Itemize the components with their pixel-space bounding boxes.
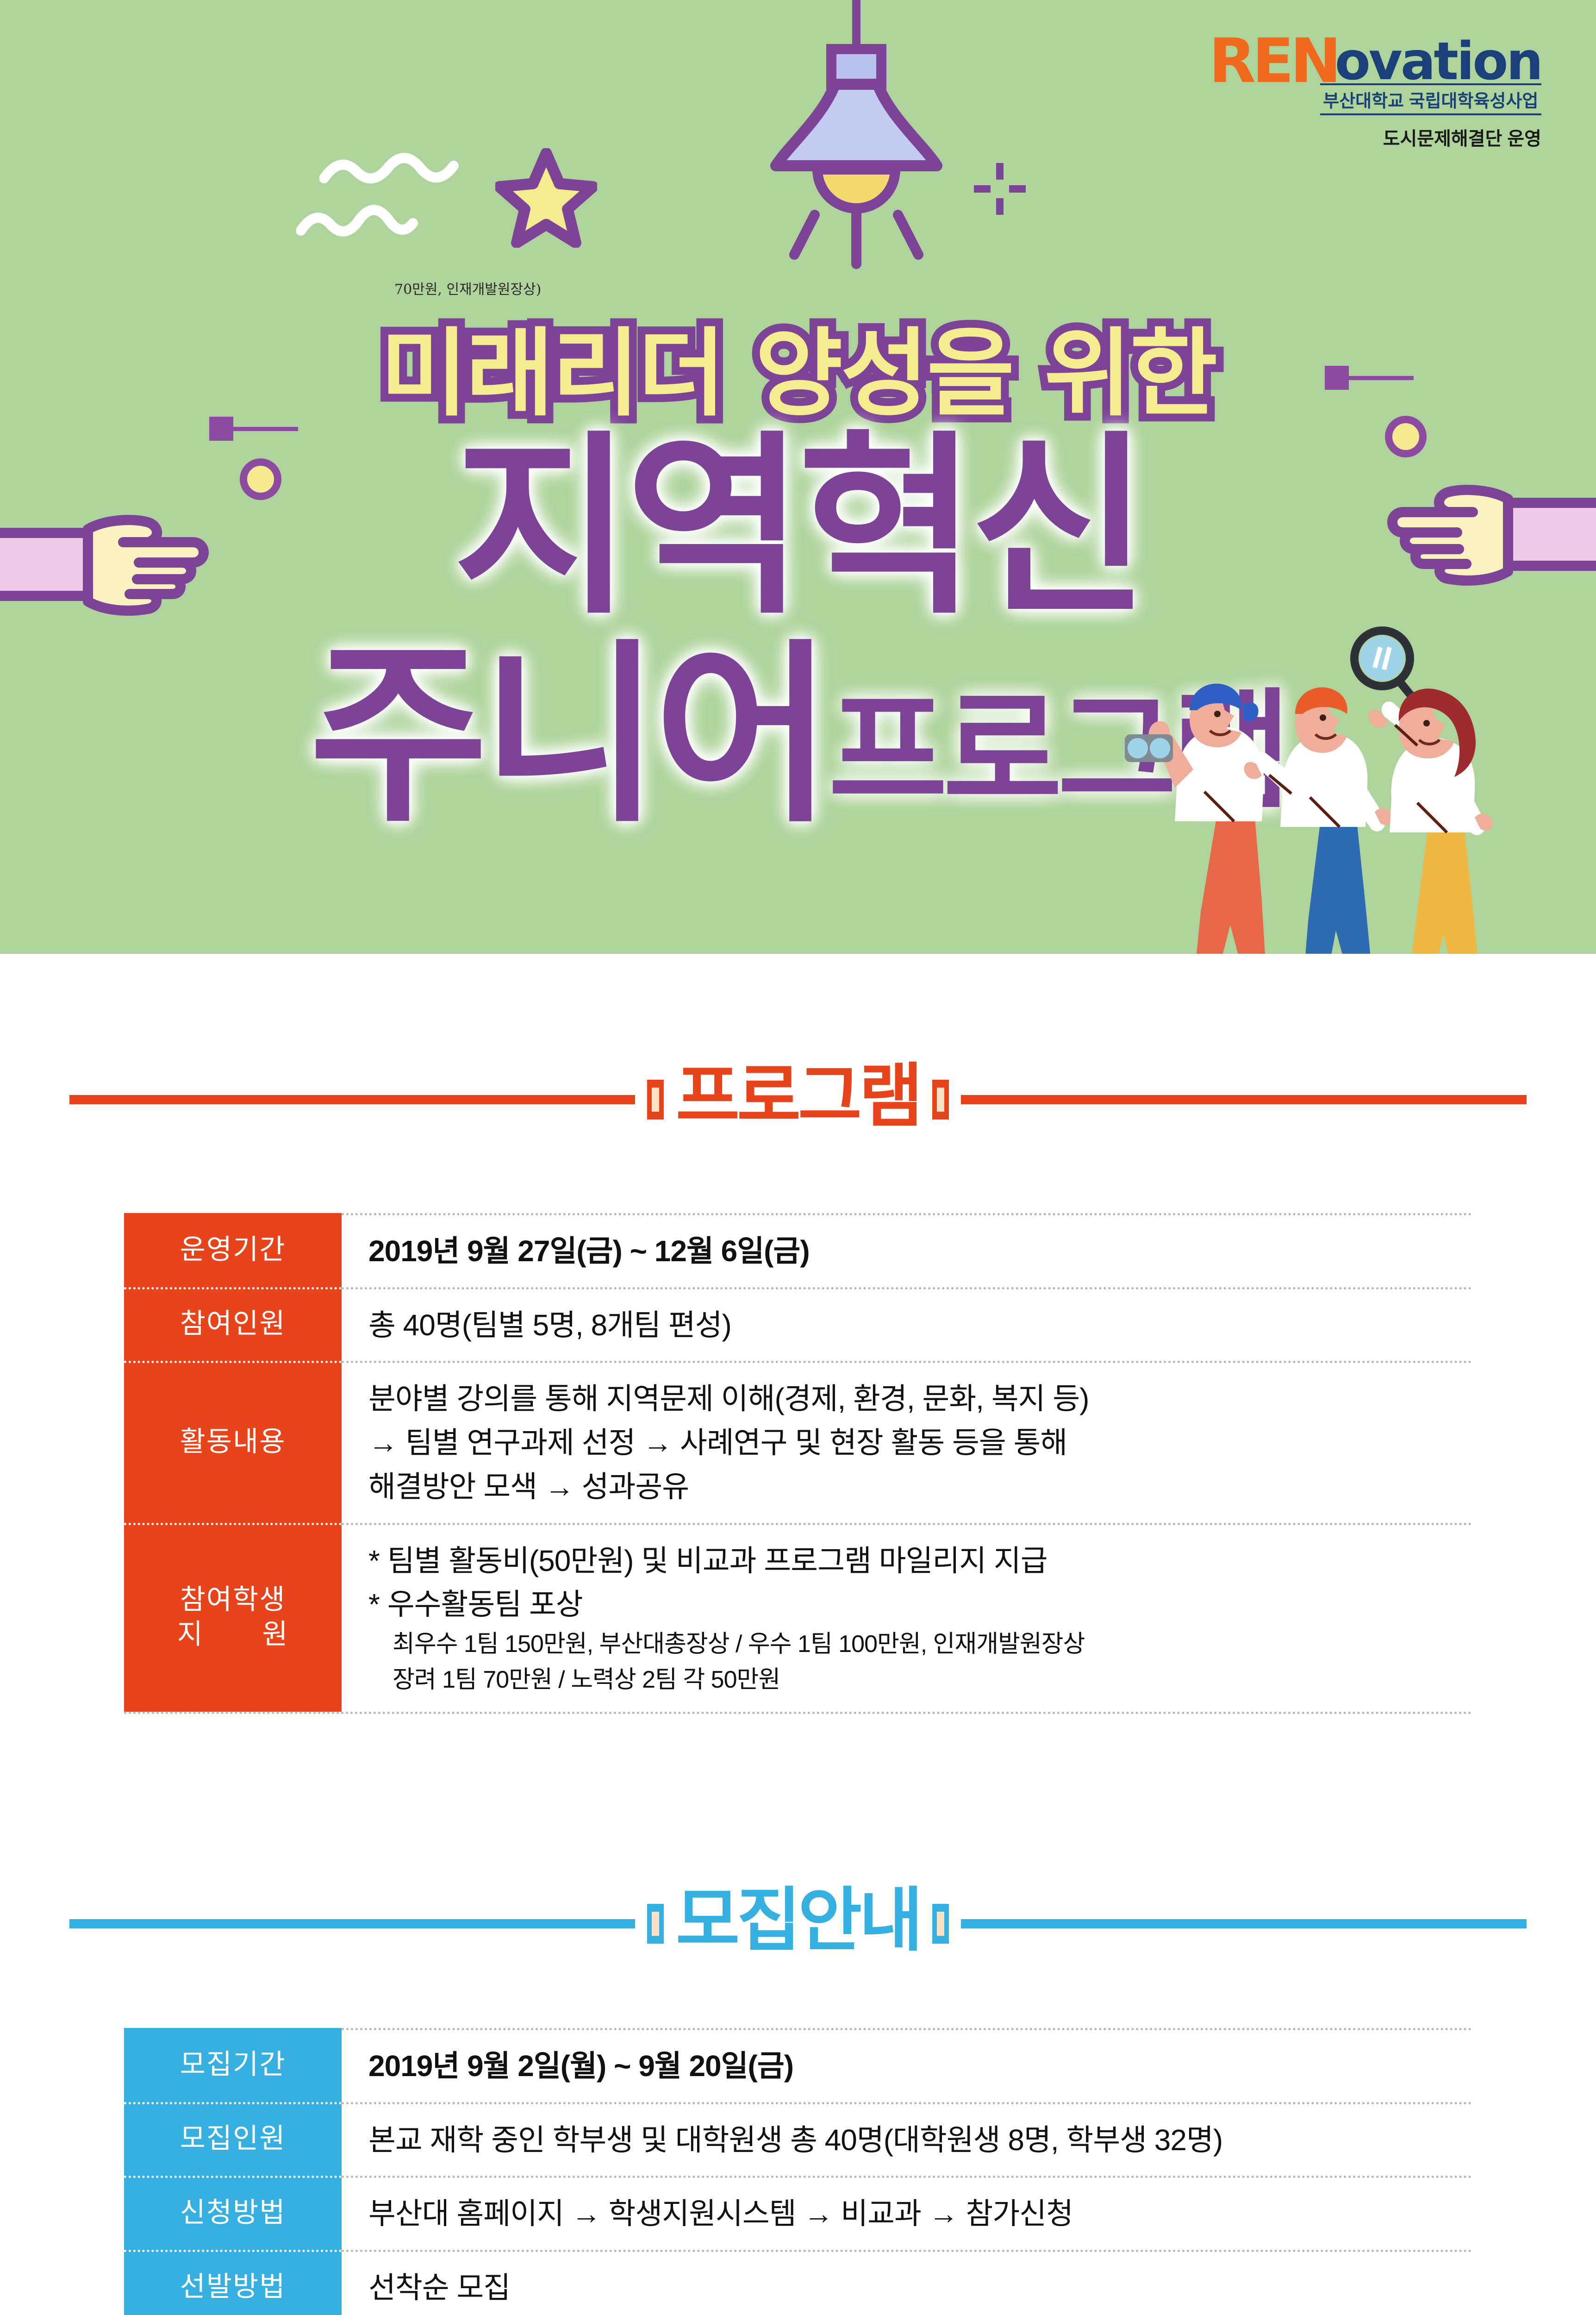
logo-ren-text: REN (1209, 36, 1338, 86)
program-info-table: 운영기간2019년 9월 27일(금) ~ 12월 6일(금)참여인원총 40명… (124, 1213, 1472, 1714)
star-icon (495, 148, 597, 248)
student-with-magnifier (1354, 631, 1493, 954)
squiggle-icon (296, 204, 435, 241)
header-decor-box-left (647, 1904, 664, 1944)
header-rule-left (69, 1095, 635, 1104)
row-value-line: 2019년 9월 27일(금) ~ 12월 6일(금) (368, 1229, 1472, 1273)
squiggle-icon (319, 153, 472, 190)
row-value: 본교 재학 중인 학부생 및 대학원생 총 40명(대학원생 8명, 학부생 3… (342, 2102, 1472, 2176)
logo-ovation-text: ovation (1335, 37, 1541, 86)
row-value-line: → 팀별 연구과제 선정 → 사례연구 및 현장 활동 등을 통해 (368, 1421, 1472, 1465)
student-center (1244, 687, 1392, 954)
row-label: 선발방법 (124, 2250, 342, 2315)
row-value: 총 40명(팀별 5명, 8개팀 편성) (342, 1287, 1472, 1361)
table-row: 참여학생 지 원* 팀별 활동비(50만원) 및 비교과 프로그램 마일리지 지… (124, 1523, 1472, 1712)
recruit-section-header: 모집안내 (0, 1884, 1596, 1963)
logo-subtitle: 부산대학교 국립대학육성사업 (1320, 83, 1541, 115)
logo-tagline: 도시문제해결단 운영 (1209, 124, 1541, 150)
row-value-line: * 팀별 활동비(50만원) 및 비교과 프로그램 마일리지 지급 (368, 1539, 1472, 1583)
program-section-header: 프로그램 (0, 1060, 1596, 1139)
recruit-info-table: 모집기간2019년 9월 2일(월) ~ 9월 20일(금)모집인원본교 재학 … (124, 2028, 1472, 2315)
stray-note-text: 70만원, 인재개발원장상) (394, 278, 541, 298)
table-row: 활동내용분야별 강의를 통해 지역문제 이해(경제, 환경, 문화, 복지 등)… (124, 1361, 1472, 1522)
hanging-lamp-icon (722, 0, 991, 275)
program-heading-text: 프로그램 (676, 1062, 920, 1138)
header-rule-left (69, 1919, 635, 1928)
row-label: 신청방법 (124, 2176, 342, 2250)
hero-banner: REN ovation 부산대학교 국립대학육성사업 도시문제해결단 운영 70… (0, 0, 1596, 954)
recruit-heading-text: 모집안내 (676, 1886, 920, 1962)
table-row: 신청방법부산대 홈페이지 → 학생지원시스템 → 비교과 → 참가신청 (124, 2176, 1472, 2250)
three-students-illustration (1036, 607, 1582, 954)
row-value-line: 부산대 홈페이지 → 학생지원시스템 → 비교과 → 참가신청 (368, 2192, 1472, 2236)
row-label: 활동내용 (124, 1361, 342, 1522)
table-row: 모집인원본교 재학 중인 학부생 및 대학원생 총 40명(대학원생 8명, 학… (124, 2102, 1472, 2176)
student-with-binoculars (1125, 683, 1282, 954)
header-rule-right (961, 1095, 1527, 1104)
row-label: 운영기간 (124, 1213, 342, 1287)
table-row: 모집기간2019년 9월 2일(월) ~ 9월 20일(금) (124, 2028, 1472, 2102)
row-value-line: 본교 재학 중인 학부생 및 대학원생 총 40명(대학원생 8명, 학부생 3… (368, 2118, 1472, 2162)
table-bottom-rule (124, 1712, 1472, 1714)
row-value: 2019년 9월 2일(월) ~ 9월 20일(금) (342, 2028, 1472, 2102)
row-label: 참여학생 지 원 (124, 1523, 342, 1712)
row-value: 2019년 9월 27일(금) ~ 12월 6일(금) (342, 1213, 1472, 1287)
row-value-line: 선착순 모집 (368, 2266, 1472, 2310)
row-value: 선착순 모집 (342, 2250, 1472, 2315)
header-decor-box-left (647, 1080, 664, 1120)
row-label: 모집인원 (124, 2102, 342, 2176)
row-label: 참여인원 (124, 1287, 342, 1361)
poster-title-line-1: 지역혁신 (0, 431, 1596, 625)
header-decor-box-right (932, 1904, 949, 1944)
row-value-line: 분야별 강의를 통해 지역문제 이해(경제, 환경, 문화, 복지 등) (368, 1377, 1472, 1421)
row-value-line: 장려 1팀 70만원 / 노력상 2팀 각 50만원 (368, 1662, 1472, 1698)
table-row: 선발방법선착순 모집 (124, 2250, 1472, 2315)
poster-subtitle: 미래리더 양성을 위한 (0, 296, 1596, 434)
row-value: 분야별 강의를 통해 지역문제 이해(경제, 환경, 문화, 복지 등)→ 팀별… (342, 1361, 1472, 1522)
row-value-line: * 우수활동팀 포상 (368, 1583, 1472, 1627)
row-label: 모집기간 (124, 2028, 342, 2102)
row-value: * 팀별 활동비(50만원) 및 비교과 프로그램 마일리지 지급* 우수활동팀… (342, 1523, 1472, 1712)
table-row: 운영기간2019년 9월 27일(금) ~ 12월 6일(금) (124, 1213, 1472, 1287)
poster-title-junior: 주니어 (309, 623, 826, 849)
sparkle-plus-icon (972, 161, 1028, 217)
row-value-line: 해결방안 모색 → 성과공유 (368, 1465, 1472, 1509)
row-value-line: 최우수 1팀 150만원, 부산대총장상 / 우수 1팀 100만원, 인재개발… (368, 1627, 1472, 1662)
row-value-line: 2019년 9월 2일(월) ~ 9월 20일(금) (368, 2044, 1472, 2088)
renovation-logo: REN ovation 부산대학교 국립대학육성사업 도시문제해결단 운영 (1209, 36, 1541, 150)
row-value: 부산대 홈페이지 → 학생지원시스템 → 비교과 → 참가신청 (342, 2176, 1472, 2250)
table-row: 참여인원총 40명(팀별 5명, 8개팀 편성) (124, 1287, 1472, 1361)
header-decor-box-right (932, 1080, 949, 1120)
header-rule-right (961, 1919, 1527, 1928)
row-value-line: 총 40명(팀별 5명, 8개팀 편성) (368, 1303, 1472, 1347)
